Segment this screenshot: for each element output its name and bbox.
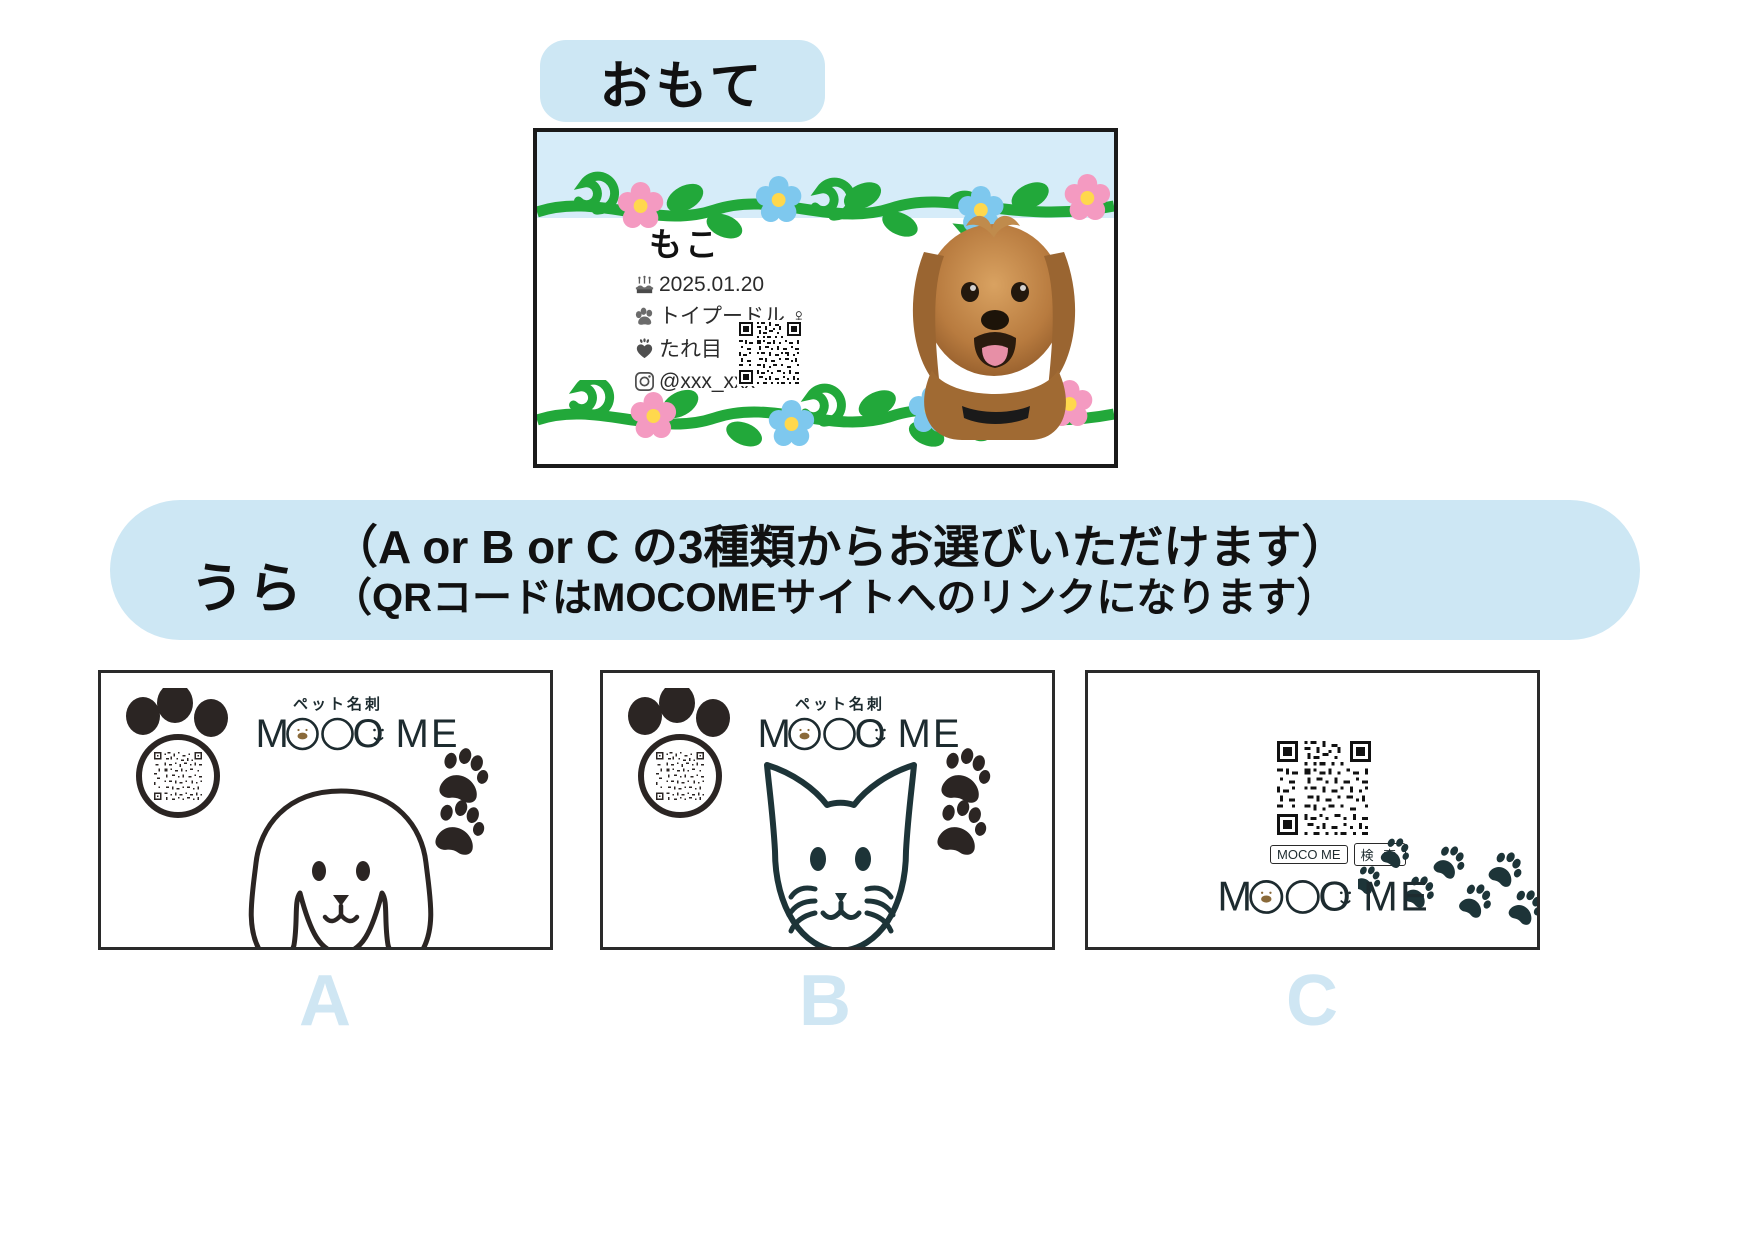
omote-badge: おもて bbox=[540, 40, 825, 122]
option-letter-b: B bbox=[765, 960, 885, 1042]
birthday-cake-icon bbox=[633, 274, 656, 297]
front-card-qr-code[interactable] bbox=[737, 320, 803, 386]
moco-me-wordmark-c: M O ME bbox=[1214, 873, 1429, 923]
ura-badge-label: うら bbox=[190, 544, 306, 623]
search-brand-box: MOCO ME bbox=[1270, 845, 1348, 864]
pet-name: もこ bbox=[649, 218, 933, 266]
back-card-c-qr-code[interactable] bbox=[1274, 738, 1374, 838]
back-card-option-b[interactable]: ペット名刺 M O ME bbox=[600, 670, 1055, 950]
back-card-option-c[interactable]: MOCO ME 検 索 bbox=[1085, 670, 1540, 950]
svg-text:M: M bbox=[256, 712, 291, 756]
svg-text:M: M bbox=[1217, 873, 1254, 920]
ura-note-lines: （A or B or C の3種類からお選びいただけます） （QRコードはMOC… bbox=[332, 520, 1347, 621]
heart-paw-icon bbox=[633, 338, 656, 361]
back-card-option-a[interactable]: ペット名刺 M O ME bbox=[98, 670, 553, 950]
instagram-icon bbox=[633, 370, 656, 393]
svg-text:O: O bbox=[353, 712, 386, 756]
brand-logo-c: M O ME bbox=[1214, 873, 1429, 933]
moco-me-wordmark-b: M O ME bbox=[755, 711, 960, 759]
paw-print-icon bbox=[633, 306, 656, 329]
svg-text:O: O bbox=[855, 712, 888, 756]
cat-face-illustration bbox=[723, 755, 958, 950]
option-letter-a: A bbox=[265, 960, 385, 1042]
svg-text:O: O bbox=[1318, 873, 1353, 920]
front-business-card: もこ 2025.01.20 トイプードル ♀ bbox=[533, 128, 1118, 468]
dog-face-illustration bbox=[216, 785, 466, 950]
omote-badge-label: おもて bbox=[600, 44, 766, 119]
birthday-text: 2025.01.20 bbox=[659, 272, 764, 298]
ura-note-line-2: （QRコードはMOCOMEサイトへのリンクになります） bbox=[332, 575, 1347, 622]
info-row-birthday: 2025.01.20 bbox=[633, 272, 933, 298]
option-letter-c: C bbox=[1252, 960, 1372, 1042]
ura-banner: うら （A or B or C の3種類からお選びいただけます） （QRコードは… bbox=[110, 500, 1640, 640]
moco-me-wordmark-a: M O ME bbox=[253, 711, 458, 759]
paw-prints-decoration-a bbox=[431, 745, 521, 865]
svg-text:M: M bbox=[758, 712, 793, 756]
paw-prints-decoration-b bbox=[933, 745, 1023, 865]
ura-note-line-1: （A or B or C の3種類からお選びいただけます） bbox=[332, 520, 1347, 574]
feature-text: たれ目 bbox=[659, 337, 722, 363]
brand-logo-a: M O ME bbox=[253, 711, 458, 769]
svg-text:ME: ME bbox=[1363, 873, 1429, 920]
